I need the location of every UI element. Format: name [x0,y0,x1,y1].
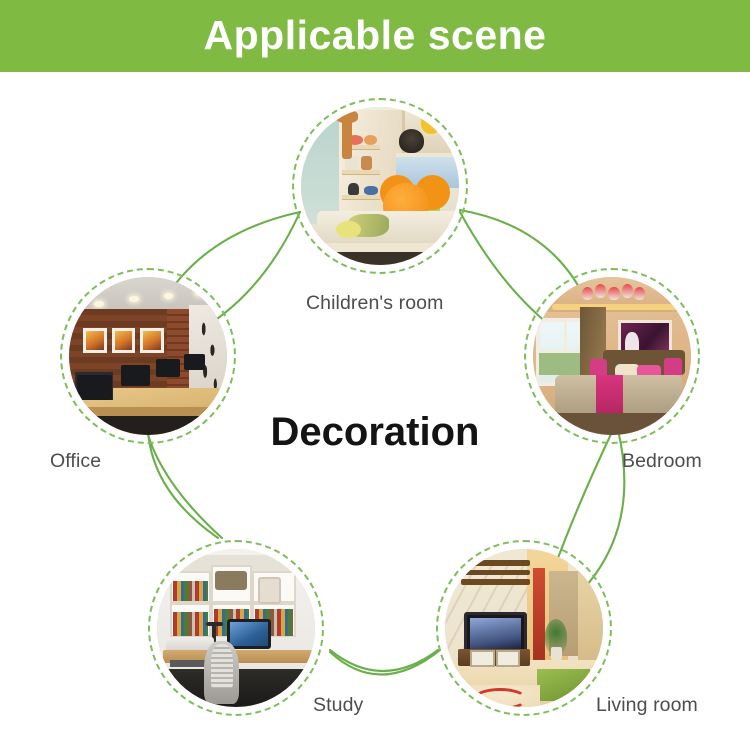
node-label-study: Study [313,694,363,717]
center-label: Decoration [0,410,750,455]
living-room-photo [445,549,603,707]
page-title: Applicable scene [204,15,547,56]
childrens-bedroom-photo [301,107,459,265]
node-study[interactable] [148,540,324,716]
study-room-photo [157,549,315,707]
node-living[interactable] [436,540,612,716]
page-header-banner: Applicable scene [0,0,750,72]
node-label-living: Living room [596,694,698,717]
scene-diagram: Children's room [0,72,750,750]
arc-inner-living-study [330,650,438,671]
node-label-children: Children's room [306,292,443,315]
node-children[interactable] [292,98,468,274]
